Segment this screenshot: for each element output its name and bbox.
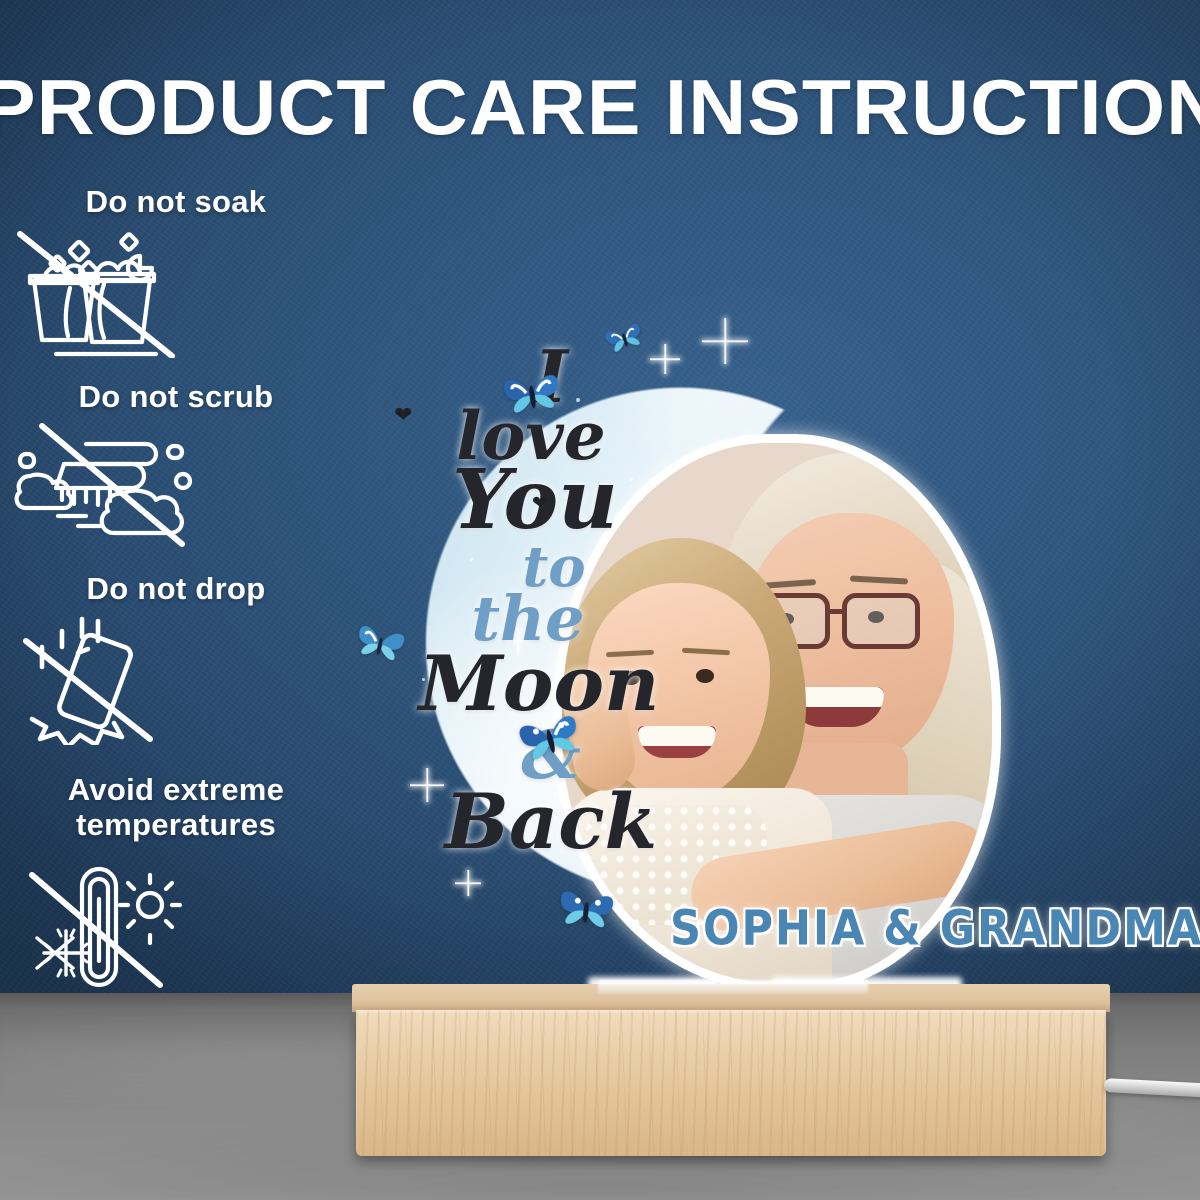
care-item-do-not-soak: Do not soak <box>0 185 352 358</box>
no-scrub-brush-icon <box>0 420 352 548</box>
care-label-do-not-scrub: Do not scrub <box>0 380 352 415</box>
base-front-panel <box>356 1010 1106 1156</box>
girl-eye-right <box>696 669 714 683</box>
grandmother-glasses-bridge <box>829 609 844 614</box>
product-care-scene: PRODUCT CARE INSTRUCTIONS Do not soak <box>0 0 1200 1200</box>
no-drop-icon <box>0 613 352 745</box>
grandmother-glasses-right-lens <box>842 593 920 649</box>
base-plaque-slot <box>598 980 868 994</box>
care-label-line-2: temperatures <box>76 807 276 842</box>
no-soak-bucket-icon <box>0 226 352 358</box>
girl-eye-left <box>622 671 640 685</box>
wooden-light-base <box>352 984 1110 1159</box>
moon-night-light-product: I love You to the Moon & Back ❤ ❤ <box>330 258 1130 1158</box>
care-item-do-not-scrub: Do not scrub <box>0 380 352 549</box>
girl-smile <box>638 726 716 758</box>
care-label-line-1: Avoid extreme <box>68 772 284 807</box>
care-label-do-not-soak: Do not soak <box>0 185 352 220</box>
care-label-avoid-extreme-temperatures: Avoid extreme temperatures <box>0 773 352 842</box>
personalized-name-text: SOPHIA & GRANDMA <box>670 901 1090 957</box>
care-item-avoid-extreme-temperatures: Avoid extreme temperatures <box>0 773 352 1000</box>
page-title: PRODUCT CARE INSTRUCTIONS <box>0 62 1200 153</box>
care-label-do-not-drop: Do not drop <box>0 572 352 607</box>
acrylic-moon-plaque: I love You to the Moon & Back ❤ ❤ <box>330 258 1130 1028</box>
care-item-do-not-drop: Do not drop <box>0 572 352 745</box>
base-top-surface <box>352 984 1110 1012</box>
care-instruction-list: Do not soak <box>0 185 352 1007</box>
no-extreme-temperature-icon <box>0 861 352 1001</box>
